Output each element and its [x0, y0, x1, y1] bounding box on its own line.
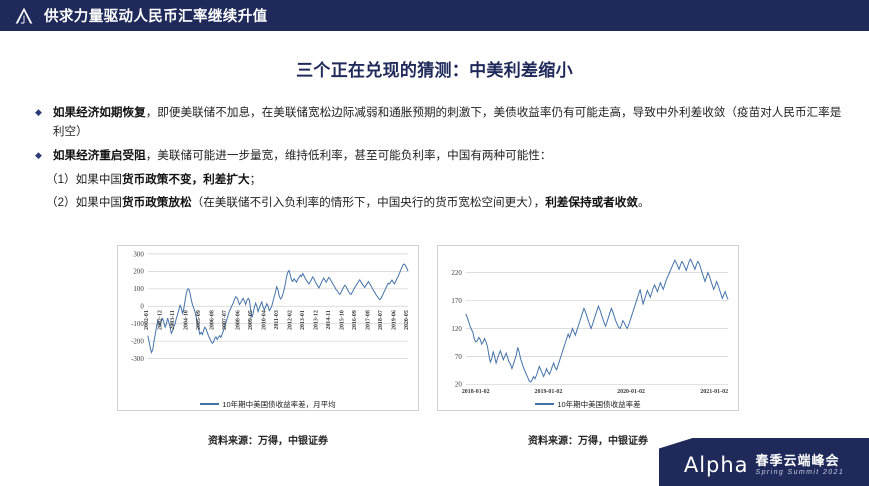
bullet-item-2-text: 如果经济重启受阻，美联储可能进一步量宽，维持低利率，甚至可能负利率，中国有两种可…: [53, 146, 846, 165]
paragraph-2-bold-end: 利差保持或者收敛: [545, 196, 638, 209]
bullet-item-2: ◆ 如果经济重启受阻，美联储可能进一步量宽，维持低利率，甚至可能负利率，中国有两…: [26, 146, 846, 165]
footer-brand-alpha: Alpha: [684, 453, 749, 477]
svg-text:2020-05: 2020-05: [404, 310, 410, 330]
body-content: ◆ 如果经济如期恢复，即便美联储不加息，在美联储宽松边际减弱和通胀预期的刺激下，…: [26, 103, 846, 216]
svg-text:-300: -300: [131, 356, 144, 363]
svg-text:2017-08: 2017-08: [366, 310, 372, 330]
svg-text:2002-01: 2002-01: [144, 310, 150, 330]
page-title: 三个正在兑现的猜测：中美利差缩小: [0, 56, 869, 81]
paragraph-2-bold-mid: 货币政策放松: [122, 196, 192, 209]
paragraph-1-bold: 货币政策不变，利差扩大: [122, 173, 250, 186]
svg-text:2008-06: 2008-06: [235, 310, 241, 330]
bullet-item-1-rest: ，即便美联储不加息，在美联储宽松边际减弱和通胀预期的刺激下，美债收益率仍有可能走…: [53, 106, 841, 138]
chart-left-svg: -300-200-10001002003002002-012002-122003…: [118, 246, 418, 410]
slide-header-bar: 供求力量驱动人民币汇率继续升值: [0, 0, 869, 31]
footer-brand-en: Spring Summit 2021: [756, 469, 845, 476]
bullet-diamond-icon: ◆: [35, 103, 42, 122]
svg-text:2021-01-02: 2021-01-02: [700, 389, 728, 395]
svg-text:-100: -100: [131, 321, 144, 328]
legend-line-swatch-icon: [200, 403, 219, 405]
bullet-item-2-rest: ，美联储可能进一步量宽，维持低利率，甚至可能负利率，中国有两种可能性：: [146, 149, 552, 162]
svg-text:120: 120: [451, 326, 462, 333]
svg-text:2018-01-02: 2018-01-02: [462, 389, 490, 395]
bullet-item-1-lead: 如果经济如期恢复: [53, 106, 146, 119]
numbered-paragraph-1: （1）如果中国货币政策不变，利差扩大；: [26, 170, 846, 189]
chart-left-source: 资料来源：万得，中银证券: [117, 432, 419, 447]
chart-left-legend: 10年期中美国债收益率差，月平均: [117, 399, 419, 410]
header-title: 供求力量驱动人民币汇率继续升值: [44, 5, 268, 26]
svg-text:300: 300: [133, 251, 144, 258]
footer-brand-band: Alpha 春季云端峰会 Spring Summit 2021: [659, 438, 869, 486]
paragraph-1-prefix: （1）如果中国: [46, 173, 122, 186]
svg-text:2004-10: 2004-10: [183, 310, 189, 330]
svg-text:2010-04: 2010-04: [262, 310, 268, 330]
numbered-paragraph-2: （2）如果中国货币政策放松（在美联储不引入负利率的情形下，中国央行的货币宽松空间…: [26, 193, 846, 212]
svg-text:70: 70: [455, 354, 462, 361]
svg-text:2019-01-02: 2019-01-02: [535, 389, 563, 395]
paragraph-2-middle: （在美联储不引入负利率的情形下，中国央行的货币宽松空间更大），: [192, 196, 546, 209]
bullet-item-1-text: 如果经济如期恢复，即便美联储不加息，在美联储宽松边际减弱和通胀预期的刺激下，美债…: [53, 103, 846, 141]
paragraph-2-prefix: （2）如果中国: [46, 196, 122, 209]
svg-text:220: 220: [451, 270, 462, 277]
svg-text:100: 100: [133, 286, 144, 293]
triangle-a-logo-icon: [14, 6, 34, 26]
bullet-diamond-icon: ◆: [35, 146, 42, 165]
chart-right-legend-label: 10年期中美国债收益率差: [557, 400, 640, 409]
svg-text:2013-01: 2013-01: [300, 310, 306, 330]
footer-brand-cn: 春季云端峰会: [756, 454, 845, 468]
svg-text:2014-11: 2014-11: [326, 310, 332, 329]
svg-text:170: 170: [451, 298, 462, 305]
svg-text:2016-09: 2016-09: [352, 310, 358, 330]
bullet-item-2-lead: 如果经济重启受阻: [53, 149, 146, 162]
chart-right-legend: 10年期中美国债收益率差: [437, 399, 739, 410]
svg-text:2015-10: 2015-10: [340, 310, 346, 330]
svg-text:2012-02: 2012-02: [288, 310, 294, 330]
svg-text:2005-09: 2005-09: [196, 310, 202, 330]
svg-text:2007-07: 2007-07: [222, 310, 228, 330]
svg-text:2003-11: 2003-11: [170, 310, 176, 329]
svg-text:2019-06: 2019-06: [392, 310, 398, 330]
paragraph-1-suffix: ；: [250, 173, 262, 186]
svg-text:2009-05: 2009-05: [248, 310, 254, 330]
chart-right-svg: 20701201702202018-01-022019-01-022020-01…: [438, 246, 738, 410]
svg-text:0: 0: [140, 304, 144, 311]
svg-text:-200: -200: [131, 339, 144, 346]
footer-content: Alpha 春季云端峰会 Spring Summit 2021: [659, 438, 869, 486]
paragraph-2-suffix: 。: [638, 196, 650, 209]
svg-text:2013-12: 2013-12: [314, 310, 320, 330]
svg-text:200: 200: [133, 269, 144, 276]
legend-line-swatch-icon: [535, 403, 554, 405]
footer-brand-cn-wrap: 春季云端峰会 Spring Summit 2021: [756, 454, 845, 476]
chart-right: 20701201702202018-01-022019-01-022020-01…: [437, 245, 739, 411]
bullet-item-1: ◆ 如果经济如期恢复，即便美联储不加息，在美联储宽松边际减弱和通胀预期的刺激下，…: [26, 103, 846, 141]
svg-text:2018-07: 2018-07: [378, 310, 384, 330]
chart-left: -300-200-10001002003002002-012002-122003…: [117, 245, 419, 411]
svg-text:20: 20: [455, 382, 462, 389]
chart-left-legend-label: 10年期中美国债收益率差，月平均: [222, 400, 335, 409]
svg-text:2002-12: 2002-12: [157, 310, 163, 330]
svg-text:2011-03: 2011-03: [274, 310, 280, 329]
svg-text:2006-08: 2006-08: [209, 310, 215, 330]
svg-text:2020-01-02: 2020-01-02: [617, 389, 645, 395]
